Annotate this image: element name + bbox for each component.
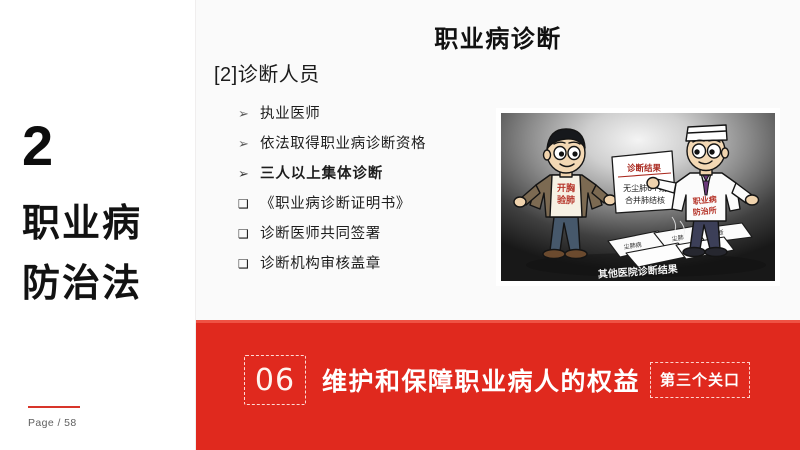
sidebar-title-line-1: 职业病	[22, 205, 142, 243]
banner-inner: 06 维护和保障职业病人的权益 第三个关口	[196, 355, 800, 405]
bullet-list: ➢执业医师➢依法取得职业病诊断资格➢三人以上集体诊断❑《职业病诊断证明书》❑诊断…	[238, 102, 538, 282]
sidebar: 2 职业病 防治法 Page / 58	[0, 0, 196, 450]
list-item: ❑诊断医师共同签署	[238, 222, 538, 252]
arrow-bullet-icon: ➢	[238, 106, 260, 122]
svg-text:合并肺结核: 合并肺结核	[625, 195, 665, 205]
square-bullet-icon: ❑	[238, 227, 260, 241]
page-marker: Page / 58	[28, 406, 148, 429]
list-item-label: 执业医师	[260, 102, 320, 123]
banner-tag-badge: 第三个关口	[650, 362, 750, 398]
chapter-number: 2	[22, 118, 52, 174]
sidebar-title-line-2: 防治法	[22, 265, 142, 303]
svg-text:验肺: 验肺	[557, 194, 575, 206]
svg-text:开胸: 开胸	[557, 182, 575, 194]
svg-text:诊断结果: 诊断结果	[627, 163, 662, 174]
page-number-label: Page / 58	[28, 417, 148, 429]
list-item: ❑《职业病诊断证明书》	[238, 192, 538, 222]
page-title: 职业病诊断	[196, 19, 800, 54]
list-item-label: 《职业病诊断证明书》	[260, 192, 411, 213]
list-item-label: 诊断医师共同签署	[260, 222, 381, 243]
arrow-bullet-icon: ➢	[238, 136, 260, 152]
square-bullet-icon: ❑	[238, 197, 260, 211]
list-item-label: 三人以上集体诊断	[260, 162, 383, 183]
square-bullet-icon: ❑	[238, 257, 260, 271]
list-item: ❑诊断机构审核盖章	[238, 252, 538, 282]
occupational-disease-cartoon: 尘肺病 尘肺 诊断 其他医院诊断结果	[501, 113, 775, 281]
section-heading: [2]诊断人员	[214, 58, 320, 87]
svg-text:尘肺: 尘肺	[671, 233, 684, 243]
banner-headline: 维护和保障职业病人的权益	[322, 362, 640, 398]
list-item-label: 诊断机构审核盖章	[260, 252, 381, 273]
slide-canvas: 2 职业病 防治法 Page / 58 职业病诊断 [2]诊断人员 ➢执业医师➢…	[0, 0, 800, 450]
list-item: ➢三人以上集体诊断	[238, 162, 538, 192]
page-marker-rule	[28, 406, 80, 408]
banner-section-number: 06	[244, 355, 306, 405]
list-item-label: 依法取得职业病诊断资格	[260, 132, 426, 153]
illustration-frame: 尘肺病 尘肺 诊断 其他医院诊断结果	[496, 108, 780, 286]
arrow-bullet-icon: ➢	[238, 166, 260, 182]
list-item: ➢执业医师	[238, 102, 538, 132]
list-item: ➢依法取得职业病诊断资格	[238, 132, 538, 162]
cartoon-illustration-svg: 尘肺病 尘肺 诊断 其他医院诊断结果	[501, 113, 775, 281]
section-banner: 06 维护和保障职业病人的权益 第三个关口	[196, 320, 800, 450]
content-panel: 职业病诊断 [2]诊断人员 ➢执业医师➢依法取得职业病诊断资格➢三人以上集体诊断…	[196, 0, 800, 320]
